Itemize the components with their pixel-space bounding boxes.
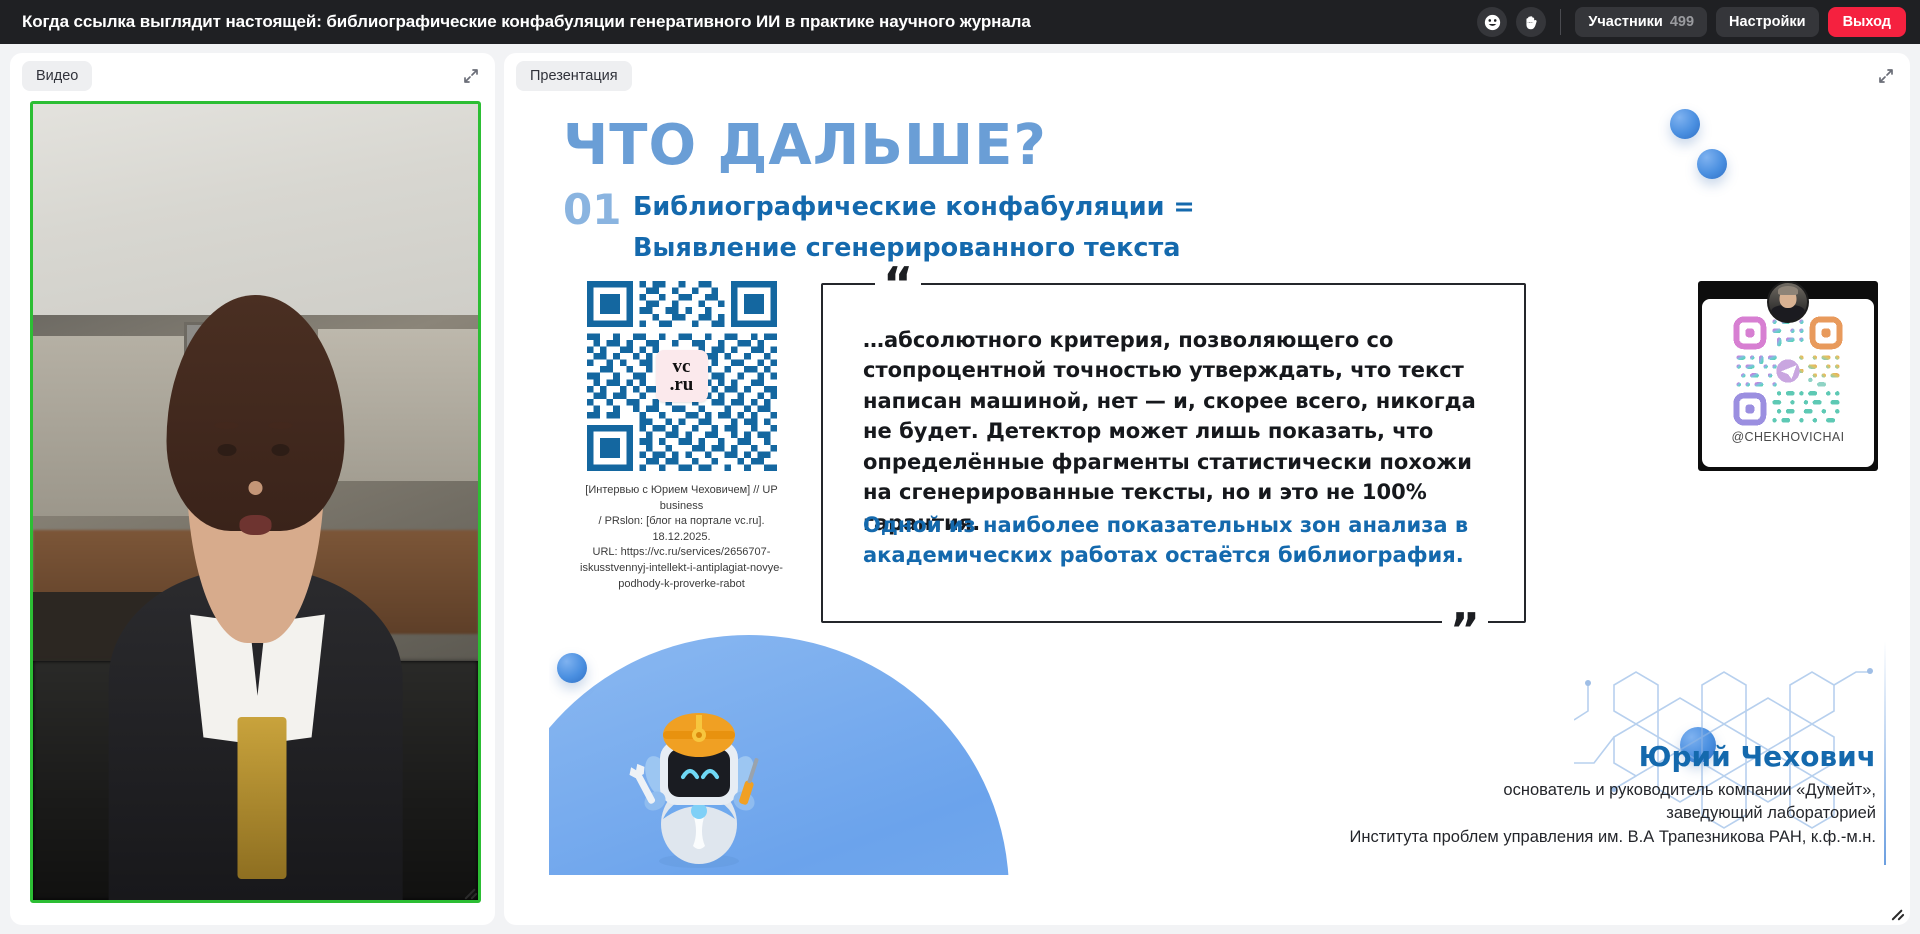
caption-line-4: iskusstvennyj-intellekt-i-antiplagiat-no…: [569, 561, 794, 577]
speaker-avatar: [1767, 281, 1809, 323]
raise-hand-icon-button[interactable]: [1516, 7, 1546, 37]
presentation-expand-icon[interactable]: [1876, 66, 1896, 86]
participants-button[interactable]: Участники 499: [1575, 7, 1707, 37]
participants-label: Участники: [1588, 14, 1663, 30]
quote-open-mark: “: [875, 271, 921, 299]
smiley-icon-button[interactable]: [1477, 7, 1507, 37]
vcru-logo-bottom: .ru: [670, 376, 694, 394]
quote-accent-text: Одной из наиболее показательных зон анал…: [863, 510, 1490, 571]
tab-video-label: Видео: [36, 68, 78, 84]
video-tile[interactable]: [30, 101, 481, 903]
attribution-name: Юрий Чехович: [1350, 740, 1876, 773]
slide-title: ЧТО ДАЛЬШЕ?: [563, 113, 1047, 178]
decor-sphere-3: [557, 653, 587, 683]
telegram-qr-icon: [1724, 315, 1852, 427]
presentation-resize-handle-icon[interactable]: [1892, 907, 1906, 921]
decor-sphere-2: [1697, 149, 1727, 179]
speaker-figure: [33, 295, 478, 903]
slide-section-number: 01: [563, 185, 621, 234]
caption-line-5: podhody-k-proverke-rabot: [569, 577, 794, 593]
speaker-brow-left: [215, 422, 239, 429]
raise-hand-icon: [1523, 14, 1540, 31]
speaker-attribution: Юрий Чехович основатель и руководитель к…: [1350, 740, 1876, 849]
settings-label: Настройки: [1729, 14, 1806, 30]
vcru-logo: vc .ru: [656, 350, 708, 402]
top-bar-actions: Участники 499 Настройки Выход: [1477, 7, 1906, 37]
tab-video[interactable]: Видео: [22, 61, 92, 91]
video-panel-header: Видео: [10, 53, 495, 98]
speaker-nose: [248, 481, 262, 495]
slide-headline-line1: Библиографические конфабуляции =: [633, 187, 1353, 228]
exit-button[interactable]: Выход: [1828, 7, 1906, 37]
video-panel: Видео: [10, 53, 495, 925]
attribution-line-1: основатель и руководитель компании «Думе…: [1350, 779, 1876, 802]
meeting-title: Когда ссылка выглядит настоящей: библиог…: [22, 12, 1031, 32]
speaker-scarf: [238, 717, 287, 878]
decor-sphere-1: [1670, 109, 1700, 139]
quote-body-text: …абсолютного критерия, позволяющего со с…: [863, 325, 1490, 538]
speaker-mouth: [239, 515, 272, 535]
vcru-qr-caption: [Интервью с Юрием Чеховичем] // UP busin…: [569, 483, 794, 592]
participants-count: 499: [1670, 14, 1694, 30]
speaker-brow-right: [269, 422, 293, 429]
attribution-line-3: Института проблем управления им. В.А Тра…: [1350, 826, 1876, 849]
caption-line-1: [Интервью с Юрием Чеховичем] // UP busin…: [569, 483, 794, 514]
speaker-hair: [167, 295, 345, 531]
top-bar: Когда ссылка выглядит настоящей: библиог…: [0, 0, 1920, 44]
presentation-panel: Презентация: [504, 53, 1910, 925]
caption-line-2: / PRslon: [блог на портале vc.ru]. 18.12…: [569, 514, 794, 545]
video-stage[interactable]: [30, 101, 481, 903]
tab-presentation-label: Презентация: [530, 68, 618, 84]
slide: ЧТО ДАЛЬШЕ? 01 Библиографические конфабу…: [549, 101, 1894, 875]
caption-line-3: URL: https://vc.ru/services/2656707-: [569, 545, 794, 561]
tab-presentation[interactable]: Презентация: [516, 61, 632, 91]
vcru-qr-code: vc .ru: [587, 281, 777, 471]
exit-label: Выход: [1843, 14, 1891, 30]
vcru-qr-block: vc .ru [Интервью с Юрием Чеховичем] // U…: [569, 281, 794, 592]
avatar-hair: [1778, 286, 1798, 295]
smiley-icon: [1484, 14, 1501, 31]
telegram-qr-card: @CHEKHOVICHAI: [1698, 281, 1878, 471]
workspace: Видео: [0, 44, 1920, 934]
slide-headline-line2: Выявление сгенерированного текста: [633, 228, 1353, 269]
presentation-panel-header: Презентация: [504, 53, 1910, 98]
slide-viewport[interactable]: ЧТО ДАЛЬШЕ? 01 Библиографические конфабу…: [549, 101, 1894, 875]
toolbar-divider: [1560, 9, 1561, 35]
slide-headline: Библиографические конфабуляции = Выявлен…: [633, 187, 1353, 270]
robot-mascot-icon: [597, 669, 802, 869]
video-top-band: [33, 104, 478, 315]
quote-close-mark: ”: [1442, 617, 1488, 645]
telegram-qr-inner: @CHEKHOVICHAI: [1702, 299, 1874, 467]
telegram-handle: @CHEKHOVICHAI: [1731, 430, 1844, 444]
video-expand-icon[interactable]: [461, 66, 481, 86]
quote-card: “ …абсолютного критерия, позволяющего со…: [821, 283, 1526, 623]
settings-button[interactable]: Настройки: [1716, 7, 1819, 37]
attribution-line-2: заведующий лабораторией: [1350, 802, 1876, 825]
